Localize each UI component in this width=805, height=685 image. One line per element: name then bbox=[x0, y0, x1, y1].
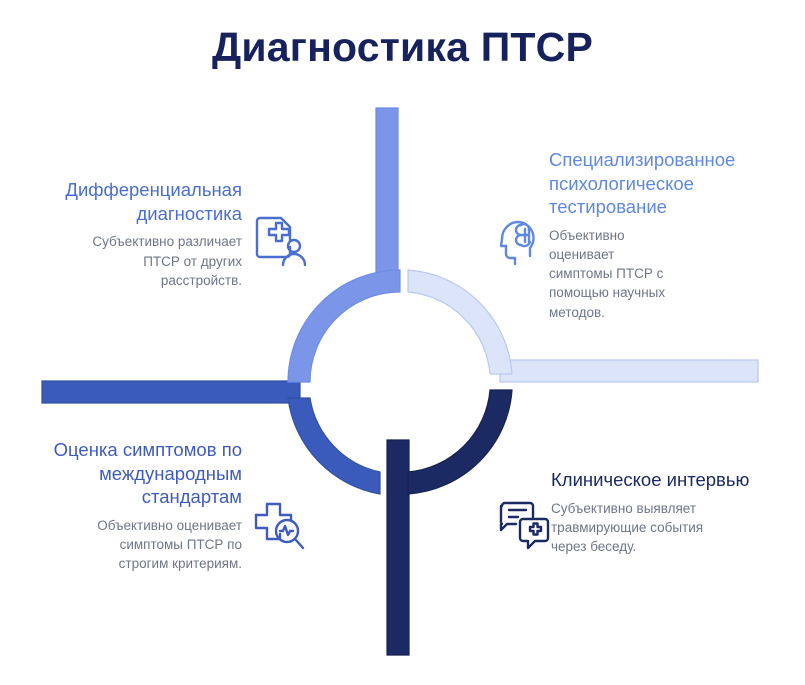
block-international-standards: Оценка симптомов по международным станда… bbox=[22, 438, 242, 573]
ring-segment-top-left bbox=[288, 270, 400, 382]
connector-bar-right bbox=[500, 360, 758, 382]
infographic-root: Диагностика ПТСР Дифференциальная диагно… bbox=[0, 0, 805, 685]
block-heading: Дифференциальная диагностика bbox=[22, 178, 242, 225]
head-brain-icon bbox=[496, 213, 550, 267]
block-clinical-interview: Клиническое интервью Субъективно выявляе… bbox=[551, 468, 786, 556]
quadrant-ring-diagram bbox=[0, 0, 805, 685]
chat-cross-icon bbox=[496, 496, 552, 550]
block-body: Субъективно выявляет травмирующие событи… bbox=[551, 499, 731, 556]
connector-stem-up bbox=[376, 108, 398, 290]
block-body: Объективно оценивает симптомы ПТСР с пом… bbox=[549, 226, 679, 322]
block-heading: Специализированное психологическое тести… bbox=[549, 148, 779, 219]
connector-stem-down bbox=[387, 440, 409, 655]
block-specialized-testing: Специализированное психологическое тести… bbox=[549, 148, 779, 322]
block-heading: Оценка симптомов по международным станда… bbox=[22, 438, 242, 509]
block-body: Субъективно различает ПТСР от других рас… bbox=[92, 232, 242, 289]
document-person-icon bbox=[250, 213, 306, 267]
ring-segment-bottom-left bbox=[288, 398, 380, 494]
block-differential-diagnosis: Дифференциальная диагностика Субъективно… bbox=[22, 178, 242, 290]
connector-bar-left bbox=[42, 381, 300, 403]
ring-segment-bottom-right bbox=[408, 390, 512, 494]
cross-pulse-icon bbox=[250, 496, 306, 550]
block-heading: Клиническое интервью bbox=[551, 468, 786, 492]
ring-segment-top-right bbox=[408, 270, 512, 374]
block-body: Объективно оценивает симптомы ПТСР по ст… bbox=[82, 516, 242, 573]
